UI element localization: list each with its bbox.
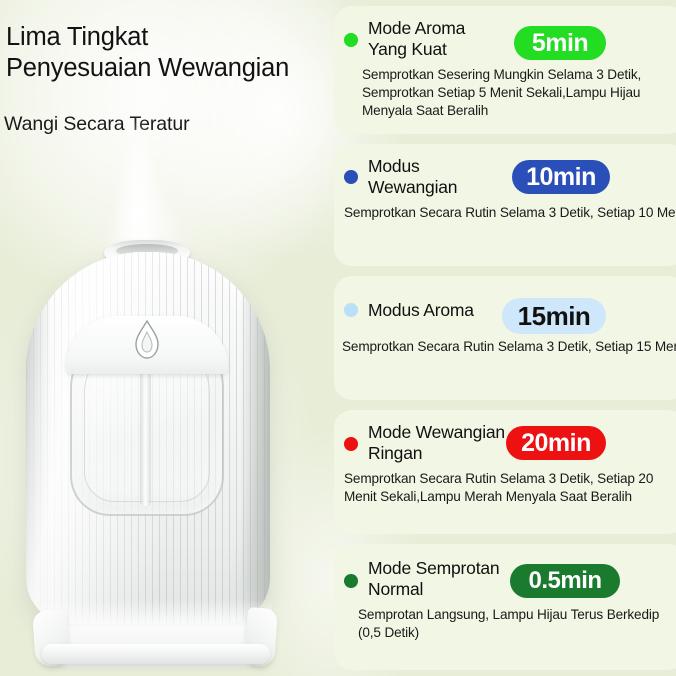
mode-bullet-dot [344,303,358,317]
left-panel: Lima Tingkat Penyesuaian Wewangian Wangi… [0,0,330,676]
mode-card[interactable]: Mode Semprotan Normal 0.5min Semprotan L… [334,544,676,670]
stand-base-bar [42,644,270,664]
flame-droplet-icon [134,320,160,360]
water-tank-stem [140,358,151,506]
mode-description: Semprotkan Sesering Mungkin Selama 3 Det… [362,66,676,120]
headline-line-1: Lima Tingkat [6,22,336,53]
headline-line-2: Penyesuaian Wewangian [6,53,336,84]
duration-badge: 10min [512,160,610,194]
mode-description: Semprotkan Secara Rutin Selama 3 Detik, … [344,470,676,506]
humidifier-product-image: 5 [8,148,308,668]
mode-title: Modus Aroma [368,300,474,321]
duration-badge: 20min [506,426,606,460]
body-edge-shadow [26,252,52,624]
duration-badge: 5min [514,26,606,60]
mode-bullet-dot [344,574,358,588]
mode-card-list: Mode Aroma Yang Kuat 5min Semprotkan Ses… [330,0,676,676]
mist-icon [124,118,152,198]
mode-card-header: Modus Wewangian 10min [334,144,676,198]
mode-title: Mode Aroma Yang Kuat [368,18,465,60]
mode-card-header: Mode Wewangian Ringan 20min [334,410,676,464]
mode-bullet-dot [344,170,358,184]
product-infographic: Lima Tingkat Penyesuaian Wewangian Wangi… [0,0,676,676]
mode-description: Semprotkan Secara Rutin Selama 3 Detik, … [342,338,676,356]
subtitle: Wangi Secara Teratur [4,112,190,136]
mode-bullet-dot [344,437,358,451]
duration-badge: 0.5min [510,564,620,598]
duration-badge: 15min [502,298,606,334]
mode-card[interactable]: Mode Aroma Yang Kuat 5min Semprotkan Ses… [334,6,676,134]
mode-title: Modus Wewangian [368,156,457,198]
mode-card-header: Modus Aroma 15min [334,276,676,322]
mode-description: Semprotkan Secara Rutin Selama 3 Detik, … [344,204,676,222]
mode-card[interactable]: Mode Wewangian Ringan 20min Semprotkan S… [334,410,676,534]
body-edge-shadow [240,252,270,624]
mode-card[interactable]: Modus Aroma 15min Semprotkan Secara Ruti… [334,276,676,400]
headline-block: Lima Tingkat Penyesuaian Wewangian [6,22,336,84]
mode-card-header: Mode Semprotan Normal 0.5min [334,544,676,600]
mode-card-header: Mode Aroma Yang Kuat 5min [334,6,676,60]
mode-bullet-dot [344,33,358,47]
mode-title: Mode Wewangian Ringan [368,422,505,464]
mode-title: Mode Semprotan Normal [368,558,499,600]
mode-card[interactable]: Modus Wewangian 10min Semprotkan Secara … [334,144,676,266]
mode-description: Semprotan Langsung, Lampu Hijau Terus Be… [358,606,676,642]
